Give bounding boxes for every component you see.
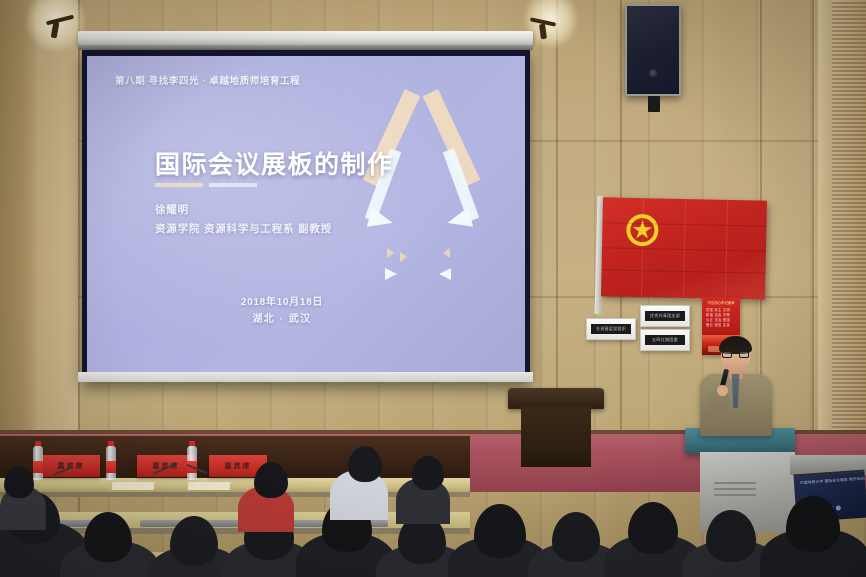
- water-bottle: [106, 446, 116, 480]
- left-return-wall: [0, 0, 36, 430]
- slide-kicker-text: 第八期 寻找李四光 · 卓越地质师培育工程: [115, 73, 300, 87]
- desk-paper: [188, 482, 231, 490]
- audience-member: [4, 466, 34, 498]
- poster-headline: 不忘初心牢记使命: [705, 300, 737, 305]
- plaque-inner: 先进基层党组织: [591, 324, 631, 334]
- desk-paper: [112, 482, 155, 490]
- water-bottle: [33, 446, 43, 480]
- screen-bottom-bar: [78, 372, 533, 382]
- wooden-lectern: [508, 388, 604, 409]
- slide-speaker-name: 徐耀明: [155, 202, 189, 217]
- plaque-label: 五四红旗团委: [645, 335, 685, 345]
- wall-speaker-icon: [625, 4, 681, 96]
- presenter-hand: [717, 385, 728, 396]
- wall-seam: [812, 0, 814, 440]
- audience-member: [348, 446, 382, 482]
- podium-vent: [714, 494, 756, 496]
- acoustic-panel-strip: [832, 0, 866, 440]
- slide-title-text: 国际会议展板的制作: [155, 145, 394, 181]
- speaker-mount-bracket: [648, 96, 660, 112]
- podium-vent: [714, 488, 756, 490]
- acoustic-panel-edge: [818, 0, 832, 440]
- wall-seam: [556, 0, 558, 440]
- lectern-column: [521, 407, 591, 467]
- presentation-slide: 第八期 寻找李四光 · 卓越地质师培育工程 国际会议展板的制作 徐耀明 资源学院…: [87, 56, 525, 377]
- plaque-label: 先进基层党组织: [591, 324, 631, 334]
- wall-plaque: 先进基层党组织: [586, 318, 636, 340]
- poster-line: 敬业 诚信 友善: [706, 323, 736, 328]
- wall-plaque: 五四红旗团委: [640, 329, 690, 351]
- projection-screen: 第八期 寻找李四光 · 卓越地质师培育工程 国际会议展板的制作 徐耀明 资源学院…: [82, 50, 530, 382]
- audience-member: [412, 456, 444, 490]
- lecture-hall-photo: 第八期 寻找李四光 · 卓越地质师培育工程 国际会议展板的制作 徐耀明 资源学院…: [0, 0, 866, 577]
- audience-member: [254, 462, 288, 498]
- water-bottle: [187, 446, 197, 480]
- plaque-inner: 五四红旗团委: [645, 335, 685, 345]
- slide-place: 湖北 · 武汉: [207, 310, 357, 325]
- wall-plaque: 优秀共青团支部: [640, 305, 690, 327]
- slide-date: 2018年10月18日: [207, 293, 357, 308]
- projection-screen-housing: [78, 31, 533, 45]
- plaque-label: 优秀共青团支部: [645, 311, 685, 321]
- poster-body: 富强 民主 文明 和谐 自由 平等 公正 法治 爱国 敬业 诚信 友善: [706, 308, 736, 328]
- podium-vent: [714, 482, 756, 484]
- plaque-inner: 优秀共青团支部: [645, 311, 685, 321]
- slide-rule-blue: [209, 183, 257, 187]
- communist-youth-league-flag-icon: [601, 197, 767, 299]
- slide-affiliation: 资源学院 资源科学与工程系 副教授: [155, 221, 332, 236]
- left-wall-panel: [36, 0, 78, 430]
- slide-rule-beige: [155, 183, 203, 187]
- monitor-text: 中国地质大学 国际会议展板 制作培训讲座: [800, 476, 866, 485]
- glasses-icon: [722, 351, 749, 358]
- placard-label: 嘉宾席: [225, 461, 252, 471]
